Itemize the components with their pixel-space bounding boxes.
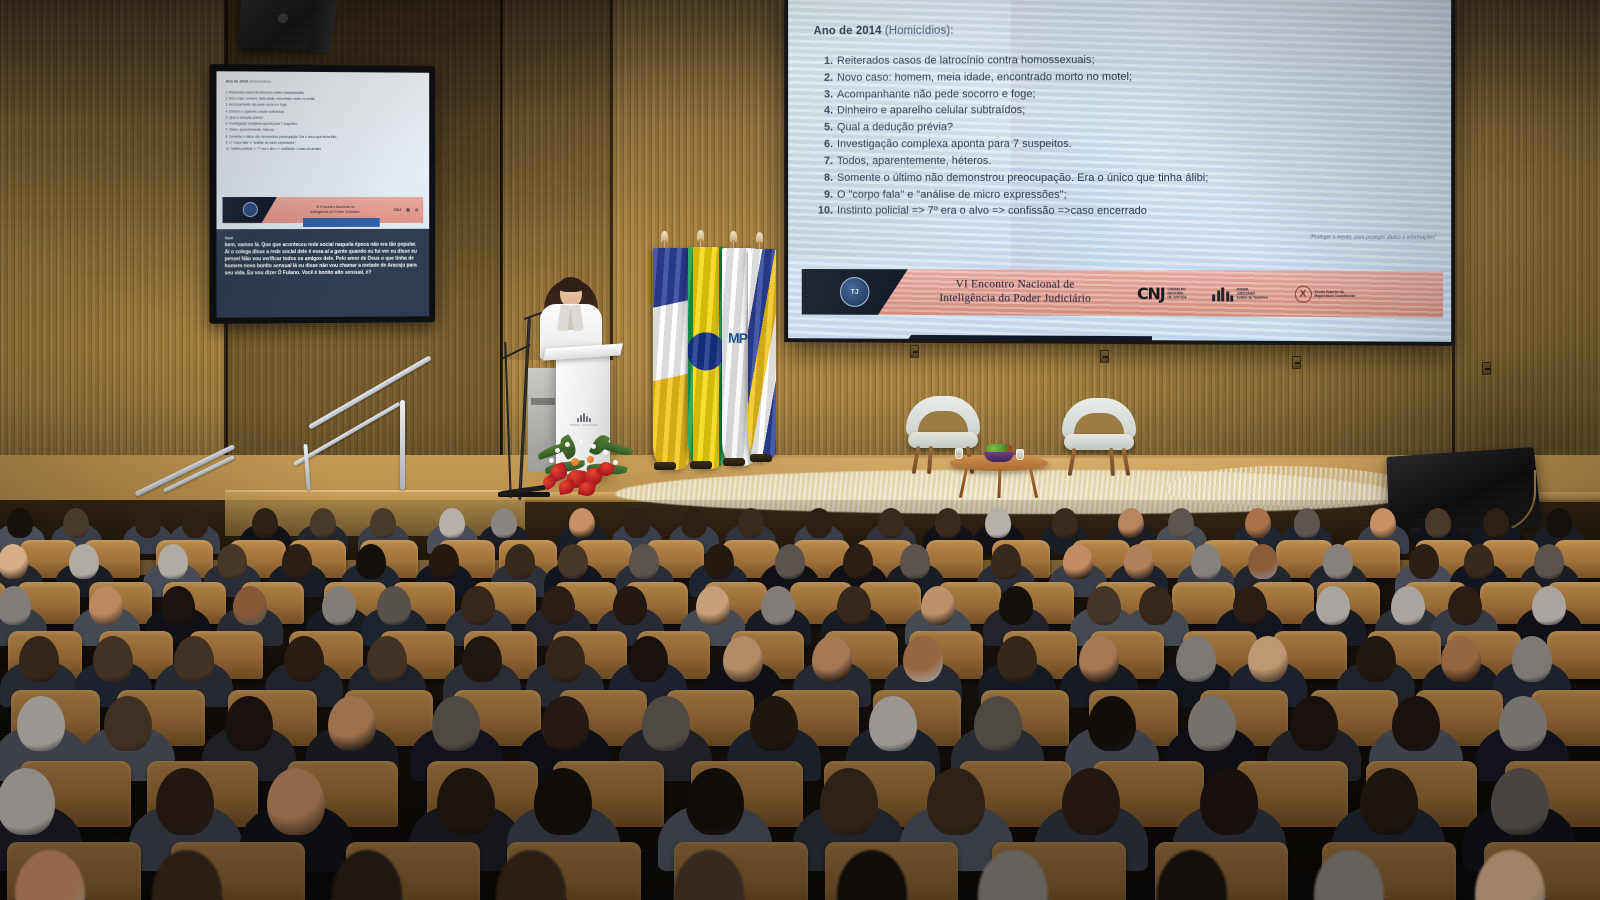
audience-member-head [1491, 768, 1549, 835]
left-slide-banner-title: VI Encontro Nacional de Inteligência do … [277, 205, 393, 214]
audience-member-head [1290, 696, 1338, 751]
audience-member-head [267, 768, 325, 835]
wall-outlet [910, 345, 919, 358]
slide-bullet-item: 4.Dinheiro e aparelho celular subtraídos… [814, 102, 1452, 120]
audience-member-head [878, 508, 904, 538]
audience-member-head [1088, 696, 1136, 751]
wall-outlet [1482, 362, 1491, 375]
banner-logos: CNJ CONSELHO NACIONAL DE JUSTIÇA PODER [1137, 284, 1355, 304]
left-slide-banner-seal-block [223, 197, 277, 223]
caption-speaker-label: Você [225, 236, 422, 241]
audience-member-head [545, 636, 585, 682]
slide-quote: "Proteger a mente, para proteger dados e… [1309, 234, 1436, 240]
audience-member-head [629, 544, 659, 579]
audience-member-head [999, 586, 1033, 625]
audience-member-head [104, 696, 152, 751]
audience-member-head [921, 586, 955, 625]
cnj-logo-icon: CNJ [1137, 284, 1165, 303]
audience-member-head [1425, 508, 1451, 538]
esmat-logo-subtext: Escola Superior da Magistratura Tocantin… [1315, 289, 1356, 298]
slide-bullet-number: 3. [814, 86, 834, 103]
slide-bullet-number: 7. [814, 153, 834, 170]
audience-member-head [1316, 586, 1350, 625]
slide-bullet-text: Investigação complexa aponta para 7 susp… [837, 138, 1072, 150]
flag-base [750, 454, 772, 462]
audience-member-head [558, 544, 588, 579]
audience-member-head [328, 696, 376, 751]
audience-member-head [89, 586, 123, 625]
audience-member-head [534, 768, 592, 835]
audience-member-head [322, 586, 356, 625]
auditorium-photo: Ano de 2014 (Homicídios): 1. Reiterados … [0, 0, 1600, 900]
slide-bullet-item: 3.Acompanhante não pede socorro e foge; [814, 85, 1452, 103]
wall-outlet [1292, 356, 1301, 369]
audience-member-head [985, 508, 1011, 538]
left-monitor-slide: Ano de 2014 (Homicídios): 1. Reiterados … [216, 71, 429, 229]
audience-member-head [356, 544, 386, 579]
audience-member-head [1248, 636, 1288, 682]
slide-bullet-text: O "corpo fala" e "análise de micro expre… [837, 188, 1067, 200]
audience-member-head [997, 636, 1037, 682]
slide-bullet-item: 5.Qual a dedução prévia? [814, 119, 1452, 137]
audience-member-head [1188, 696, 1236, 751]
slide-bullet-number: 8. [814, 170, 834, 187]
wall-outlet [1100, 350, 1109, 363]
esmat-logo-icon: X [1294, 285, 1311, 302]
audience-member-head [1392, 696, 1440, 751]
audience-member-head [0, 544, 28, 579]
podium-logo: PODER JUDICIÁRIO [570, 412, 598, 427]
handrail-post [400, 400, 405, 490]
audience-member-head [1087, 586, 1121, 625]
audience-member-head [1409, 544, 1439, 579]
tribunal-seal-icon [242, 202, 257, 217]
audience-member-head [182, 508, 208, 538]
esmat-logo-icon: ◎ [415, 207, 418, 212]
audience-member-head [1233, 586, 1267, 625]
audience-member-head [613, 586, 647, 625]
audience-member-head [1176, 636, 1216, 682]
audience-member-head [1139, 586, 1173, 625]
audience-member-head [820, 768, 878, 835]
cnj-logo-subtext: CONSELHO NACIONAL DE JUSTIÇA [1167, 287, 1186, 300]
flower-arrangement [535, 432, 635, 502]
audience-member-head [461, 586, 495, 625]
slide-bullet-item: 6.Investigação complexa aponta para 7 su… [814, 136, 1452, 153]
tribunal-seal-icon: TJ [840, 277, 869, 307]
slide-bullet-item: 2.Novo caso: homem, meia idade, encontra… [814, 68, 1452, 87]
slide-bullet-number: 4. [814, 103, 834, 120]
slide-bullet-number: 10. [814, 203, 834, 220]
cnj-logo-icon: CNJ [393, 207, 401, 212]
audience-member-head [974, 696, 1022, 751]
audience-member-head [161, 586, 195, 625]
slide-bullet-item: 10.Instinto policial => 7º era o alvo =>… [814, 203, 1452, 221]
audience-member-head [991, 544, 1021, 579]
audience-member-head [750, 696, 798, 751]
audience-member-head [541, 586, 575, 625]
projection-surface: Ano de 2014 (Homicídios): 1.Reiterados c… [788, 0, 1451, 342]
audience-member-head [1448, 586, 1482, 625]
slide-bullet-text: Dinheiro e aparelho celular subtraídos; [837, 105, 1025, 117]
slide-bullet-number: 2. [814, 70, 834, 87]
slide-title: Ano de 2014 (Homicídios): [814, 22, 1452, 37]
poder-judiciario-logo-icon [570, 412, 598, 422]
caption-text: bem, vamos lá. Que que aconteceu rede so… [225, 242, 422, 278]
audience-member-head [723, 636, 763, 682]
audience-member-head [174, 636, 214, 682]
audience-member-head [1079, 636, 1119, 682]
presenter-hair-front [558, 277, 584, 292]
podium-shelf [531, 398, 555, 405]
audience-member-head [252, 508, 278, 538]
water-glass [955, 448, 963, 459]
audience-member-head [0, 586, 31, 625]
audience [0, 500, 1600, 900]
slide-bullet-item: 7.Todos, aparentemente, héteros. [814, 153, 1452, 170]
slide-bullet-item: 8.Somente o último não demonstrou preocu… [814, 170, 1452, 187]
audience-member-head [63, 508, 89, 538]
audience-member-head [1323, 544, 1353, 579]
slide-bullet-item: 1.Reiterados casos de latrocínio contra … [814, 51, 1452, 70]
audience-member-head [1512, 636, 1552, 682]
audience-member-head [775, 544, 805, 579]
audience-member-head [927, 768, 985, 835]
audience-member-head [17, 696, 65, 751]
audience-member-head [1546, 508, 1572, 538]
flag-brazil [688, 247, 724, 469]
audience-member-head [569, 508, 595, 538]
audience-member-head [806, 508, 832, 538]
main-projection-screen: Ano de 2014 (Homicídios): 1.Reiterados c… [784, 0, 1455, 346]
audience-member-head [738, 508, 764, 538]
audience-member-head [233, 586, 267, 625]
audience-member-head [1499, 696, 1547, 751]
audience-member-head [462, 636, 502, 682]
poder-judiciario-logo-icon: ▥ [406, 207, 410, 212]
audience-member-head [1391, 586, 1425, 625]
left-slide-banner-logos: CNJ ▥ ◎ [393, 207, 423, 212]
water-glass [1016, 449, 1024, 460]
esmat-logo: X Escola Superior da Magistratura Tocant… [1294, 285, 1355, 302]
audience-member-head [628, 636, 668, 682]
audience-member-head [135, 508, 161, 538]
live-caption-panel: Você bem, vamos lá. Que que aconteceu re… [216, 229, 429, 318]
slide-bullet-text: Somente o último não demonstrou preocupa… [837, 172, 1208, 184]
audience-member-head [1245, 508, 1271, 538]
left-slide-list: 1. Reiterados casos de latrocínio contra… [226, 89, 423, 152]
left-slide-title: Ano de 2014 (Homicídios): [226, 79, 423, 84]
audience-member-head [761, 586, 795, 625]
audience-member-head [812, 636, 852, 682]
audience-member-head [1360, 768, 1418, 835]
audience-member-head [19, 636, 59, 682]
audience-member-head [1356, 636, 1396, 682]
slide-bullet-text: Todos, aparentemente, héteros. [837, 155, 992, 167]
banner-dark-accent [896, 335, 1152, 342]
flag-base [723, 458, 745, 466]
audience-member-head [642, 696, 690, 751]
cnj-logo: CNJ CONSELHO NACIONAL DE JUSTIÇA [1137, 284, 1187, 303]
slide-bullet-number: 6. [814, 136, 834, 153]
audience-member-head [370, 508, 396, 538]
audience-member-head [437, 768, 495, 835]
audience-member-head [704, 544, 734, 579]
event-banner: TJ VI Encontro Nacional de Inteligência … [802, 269, 1443, 318]
audience-member-head [310, 508, 336, 538]
audience-member-head [282, 544, 312, 579]
flag-mpe-emblem: MP [728, 330, 748, 347]
audience-member-head [696, 586, 730, 625]
flag-institutional [748, 249, 776, 461]
audience-member-head [377, 586, 411, 625]
audience-member-head [1441, 636, 1481, 682]
audience-member-head [158, 544, 188, 579]
audience-member-head [7, 508, 33, 538]
audience-member-head [439, 508, 465, 538]
flag-tocantins [653, 248, 689, 470]
audience-member-head [681, 508, 707, 538]
audience-member-head [1483, 508, 1509, 538]
banner-seal-block: TJ [802, 269, 908, 315]
audience-member-head [1052, 508, 1078, 538]
audience-member-head [1534, 544, 1564, 579]
flag-base [690, 461, 712, 469]
audience-member-head [1168, 508, 1194, 538]
audience-member-head [624, 508, 650, 538]
audience-member-head [505, 544, 535, 579]
left-monitor-screen: Ano de 2014 (Homicídios): 1. Reiterados … [216, 71, 429, 318]
slide-bullet-number: 1. [814, 53, 834, 70]
audience-member-head [1200, 768, 1258, 835]
audience-member-head [900, 544, 930, 579]
audience-member-head [367, 636, 407, 682]
left-slide-banner-bar [303, 218, 379, 227]
slide-bullet-list: 1.Reiterados casos de latrocínio contra … [814, 51, 1452, 221]
slide-bullet-text: Reiterados casos de latrocínio contra ho… [837, 54, 1095, 67]
slide-bullet-text: Acompanhante não pede socorro e foge; [837, 88, 1036, 100]
audience-member-head [1118, 508, 1144, 538]
podium-logo-text: PODER JUDICIÁRIO [570, 424, 598, 427]
flag-base [654, 462, 676, 470]
audience-member-head [69, 544, 99, 579]
left-slide-banner: VI Encontro Nacional de Inteligência do … [223, 197, 424, 223]
audience-member-head [0, 768, 55, 835]
audience-member-head [225, 696, 273, 751]
slide-bullet-text: Novo caso: homem, meia idade, encontrado… [837, 71, 1132, 84]
audience-member-head [491, 508, 517, 538]
audience-member-head [837, 586, 871, 625]
left-monitor: Ano de 2014 (Homicídios): 1. Reiterados … [209, 64, 435, 324]
audience-member-head [284, 636, 324, 682]
audience-member-head [1294, 508, 1320, 538]
audience-member-head [217, 544, 247, 579]
audience-member-head [903, 636, 943, 682]
audience-member-head [429, 544, 459, 579]
audience-member-head [1062, 768, 1120, 835]
poder-judiciario-logo-icon [1213, 286, 1234, 301]
poder-judiciario-logo: PODER JUDICIÁRIO Estado do Tocantins [1213, 286, 1268, 301]
audience-member-head [1124, 544, 1154, 579]
audience-member-head [1370, 508, 1396, 538]
slide-bullet-number: 5. [814, 120, 834, 137]
left-slide-bullet-item: 10. Instinto policial => 7º era o alvo =… [226, 146, 423, 153]
poder-judiciario-subtext: PODER JUDICIÁRIO Estado do Tocantins [1237, 287, 1268, 300]
audience-member-head [93, 636, 133, 682]
audience-member-head [935, 508, 961, 538]
banner-event-title: VI Encontro Nacional de Inteligência do … [939, 279, 1091, 307]
audience-member-head [686, 768, 744, 835]
audience-member-head [1532, 586, 1566, 625]
audience-member-head [869, 696, 917, 751]
audience-member-head [1191, 544, 1221, 579]
audience-member-head [541, 696, 589, 751]
slide-bullet-number: 9. [814, 186, 834, 203]
audience-member-head [1464, 544, 1494, 579]
audience-member-head [432, 696, 480, 751]
audience-member-head [1063, 544, 1093, 579]
slide-content: Ano de 2014 (Homicídios): 1.Reiterados c… [788, 0, 1451, 221]
slide-bullet-item: 9.O "corpo fala" e "análise de micro exp… [814, 186, 1452, 203]
slide-bullet-text: Instinto policial => 7º era o alvo => co… [837, 205, 1147, 217]
audience-member-head [1248, 544, 1278, 579]
slide-bullet-text: Qual a dedução prévia? [837, 122, 953, 134]
audience-member-head [843, 544, 873, 579]
